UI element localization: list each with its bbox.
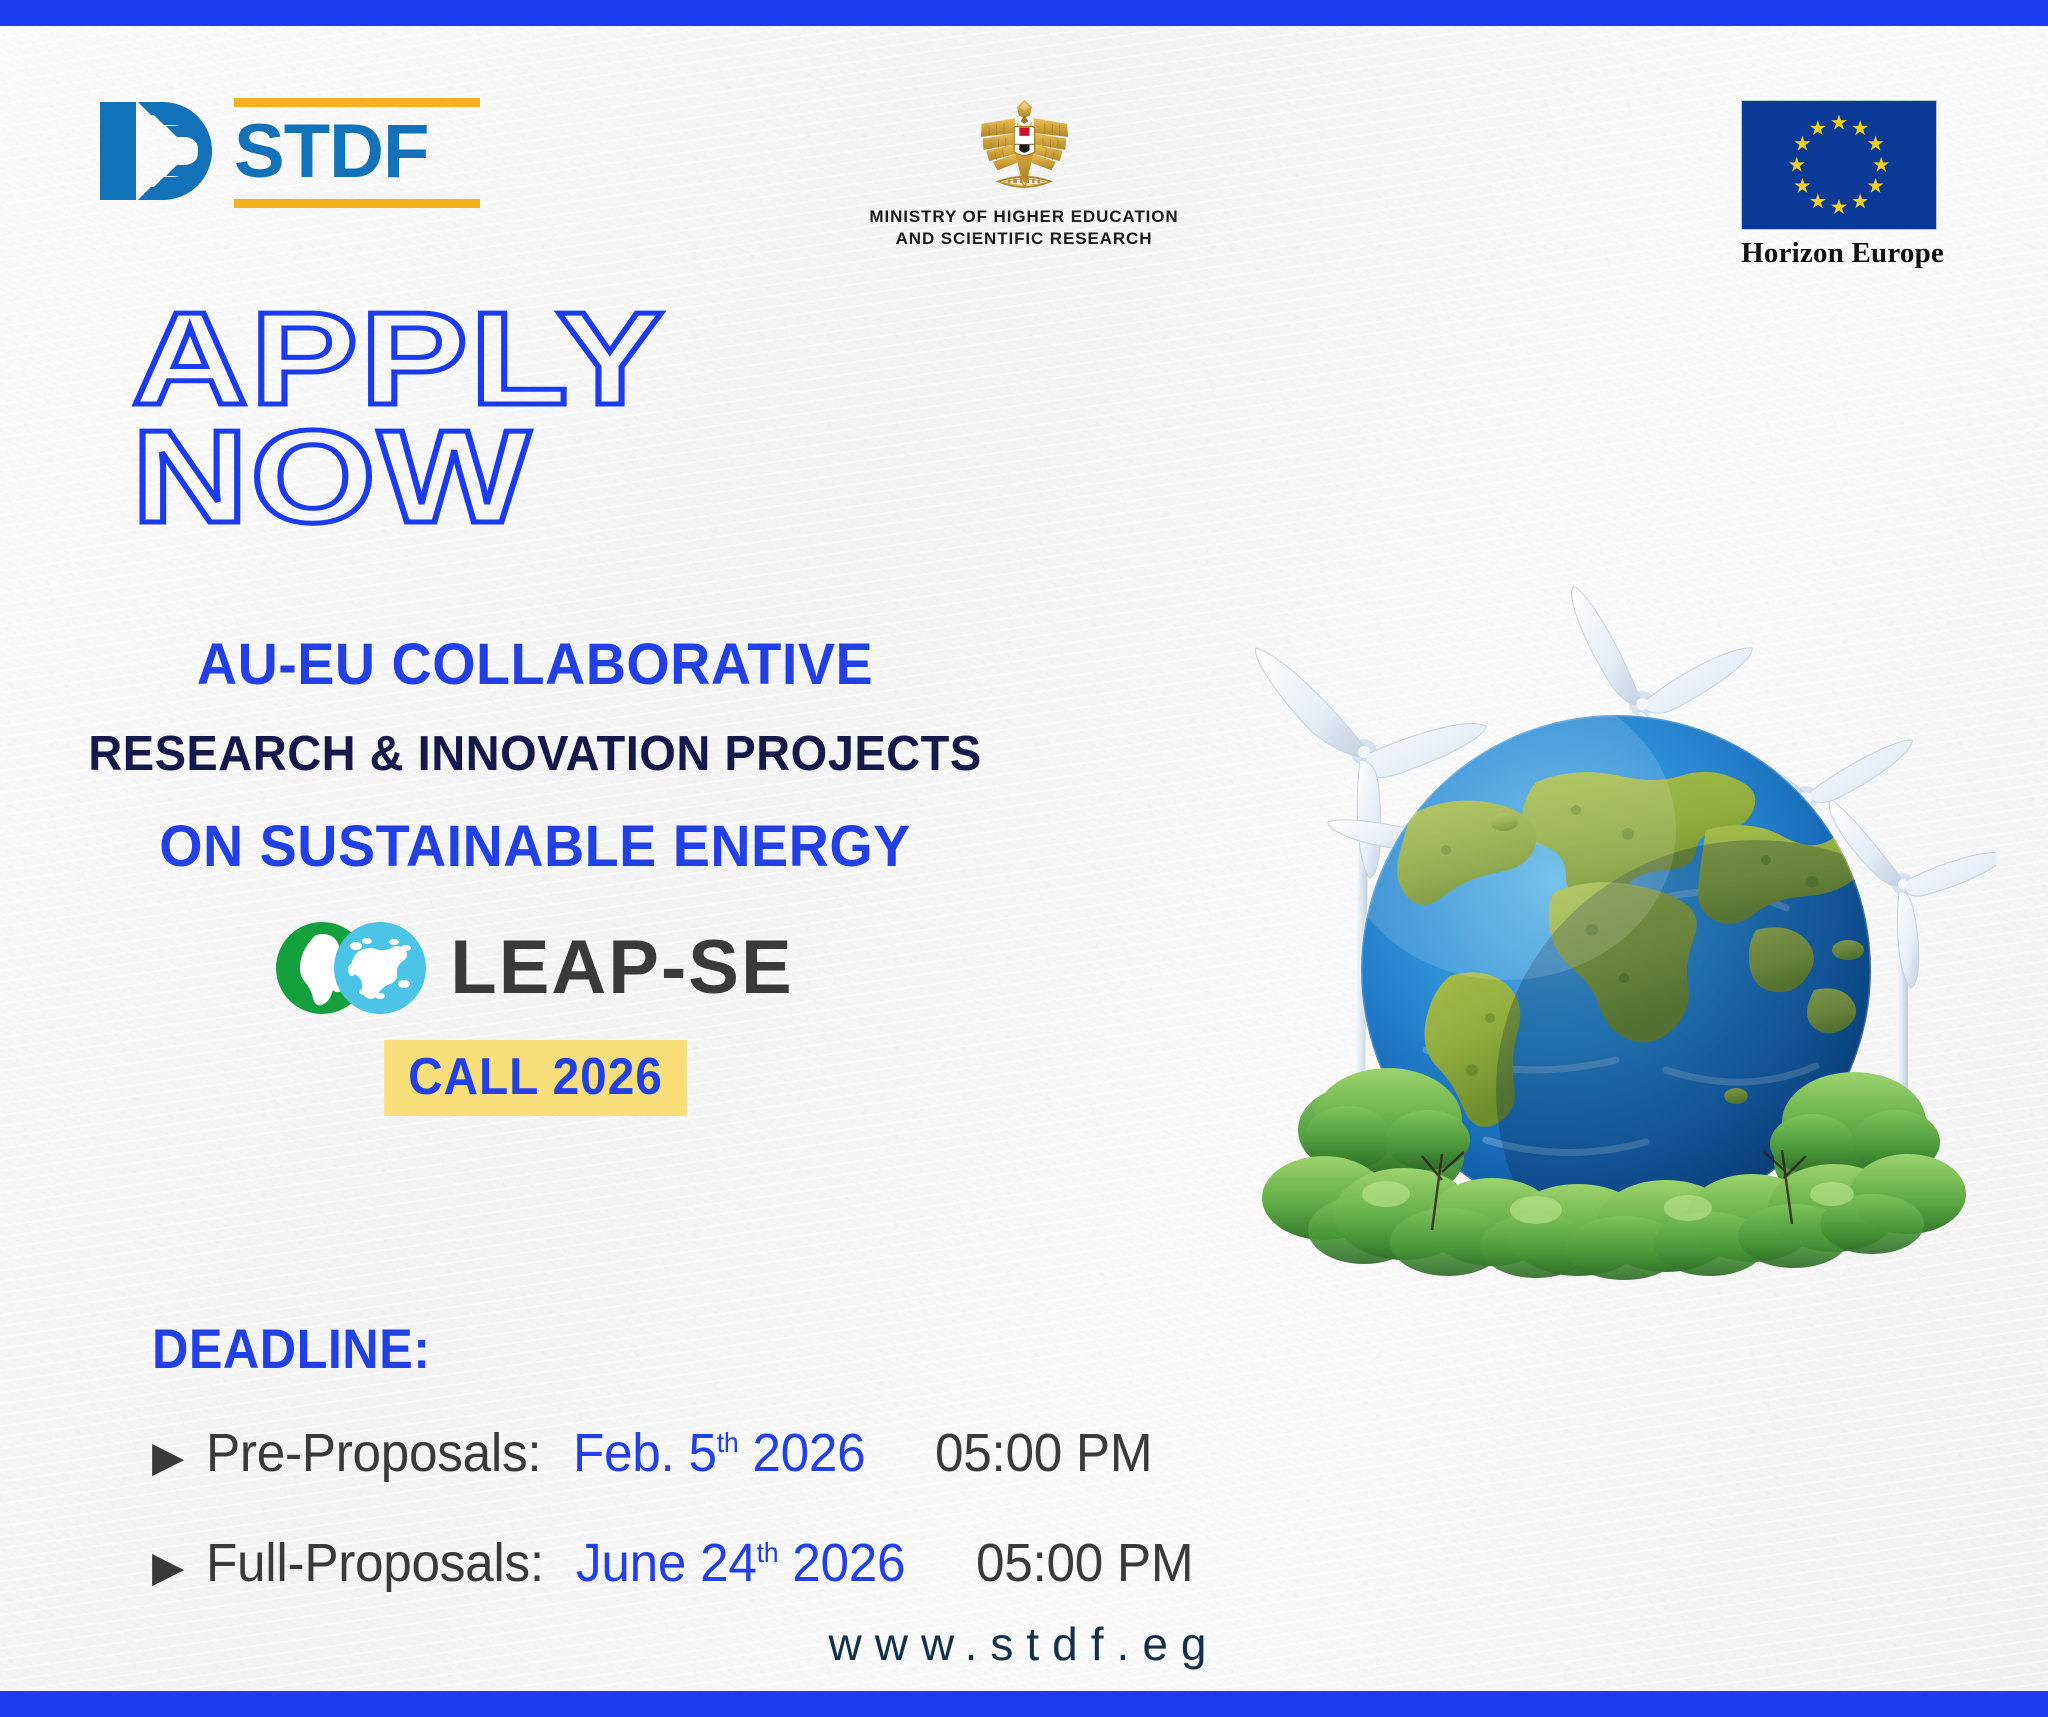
leap-se-wordmark: LEAP-SE xyxy=(450,927,793,1009)
stdf-rule-top xyxy=(234,98,480,107)
deadline-time-pre: 05:00 PM xyxy=(935,1420,1152,1486)
poster-canvas: STDF xyxy=(0,0,2048,1717)
main-content: APPLY NOW AU-EU COLLABORATIVE RESEARCH &… xyxy=(0,300,1200,1116)
deadline-date-full-year: 2026 xyxy=(792,1533,905,1593)
call-badge-wrapper: CALL 2026 xyxy=(0,1040,1180,1116)
european-union-flag-icon xyxy=(1741,100,1937,230)
horizon-europe-logo: Horizon Europe xyxy=(1741,100,1944,270)
headline-line-1: AU-EU COLLABORATIVE xyxy=(21,628,1048,702)
leap-se-mark-icon xyxy=(276,922,426,1014)
deadline-time-full: 05:00 PM xyxy=(976,1530,1193,1596)
deadline-date-full-ordinal: th xyxy=(757,1537,779,1568)
triangle-bullet-icon: ▶ xyxy=(152,1424,184,1490)
deadline-title: DEADLINE: xyxy=(152,1318,1100,1380)
green-earth-wind-turbines-illustration xyxy=(1236,430,1996,1290)
headline-block: AU-EU COLLABORATIVE RESEARCH & INNOVATIO… xyxy=(0,628,1180,884)
horizon-europe-label: Horizon Europe xyxy=(1741,236,1944,270)
top-accent-bar xyxy=(0,0,2048,26)
deadline-date-pre-year: 2026 xyxy=(753,1423,866,1483)
stdf-mark-icon xyxy=(100,102,212,200)
apply-now-heading: APPLY NOW xyxy=(0,300,1464,536)
deadline-date-full-month: June 24 xyxy=(576,1533,757,1593)
apply-now-line2: NOW xyxy=(132,418,1464,536)
deadline-label-full: Full-Proposals: xyxy=(206,1530,544,1596)
deadline-row-pre-proposals: ▶ Pre-Proposals: Feb. 5th 2026 05:00 PM xyxy=(152,1410,1205,1490)
ministry-label-line1: MINISTRY OF HIGHER EDUCATION xyxy=(869,206,1178,228)
deadline-date-pre-month: Feb. 5 xyxy=(573,1423,717,1483)
header-logos: STDF xyxy=(0,0,2048,280)
headline-line-2: RESEARCH & INNOVATION PROJECTS xyxy=(21,720,1048,788)
deadline-date-pre-ordinal: th xyxy=(717,1427,739,1458)
headline-line-3: ON SUSTAINABLE ENERGY xyxy=(21,810,1048,884)
stdf-wordmark: STDF xyxy=(234,107,480,197)
ministry-label-line2: AND SCIENTIFIC RESEARCH xyxy=(869,228,1178,250)
call-2026-badge: CALL 2026 xyxy=(384,1040,687,1116)
deadline-row-full-proposals: ▶ Full-Proposals: June 24th 2026 05:00 P… xyxy=(152,1520,1205,1600)
ministry-logo: MINISTRY OF HIGHER EDUCATION AND SCIENTI… xyxy=(869,96,1178,250)
triangle-bullet-icon: ▶ xyxy=(152,1534,184,1600)
deadline-section: DEADLINE: ▶ Pre-Proposals: Feb. 5th 2026… xyxy=(152,1318,1205,1600)
deadline-label-pre: Pre-Proposals: xyxy=(206,1420,541,1486)
bottom-accent-bar xyxy=(0,1691,2048,1717)
apply-now-line1: APPLY xyxy=(132,300,1464,418)
website-url[interactable]: www.stdf.eg xyxy=(0,1617,2048,1671)
stdf-logo: STDF xyxy=(100,98,480,208)
globe-artwork-svg xyxy=(1236,430,1996,1290)
stdf-rule-bottom xyxy=(234,199,480,208)
deadline-date-pre: Feb. 5th 2026 xyxy=(573,1410,865,1486)
europe-continent-icon xyxy=(334,922,426,1014)
leap-se-logo: LEAP-SE xyxy=(0,922,1180,1014)
deadline-date-full: June 24th 2026 xyxy=(576,1520,905,1596)
eagle-of-saladin-icon xyxy=(968,96,1080,200)
